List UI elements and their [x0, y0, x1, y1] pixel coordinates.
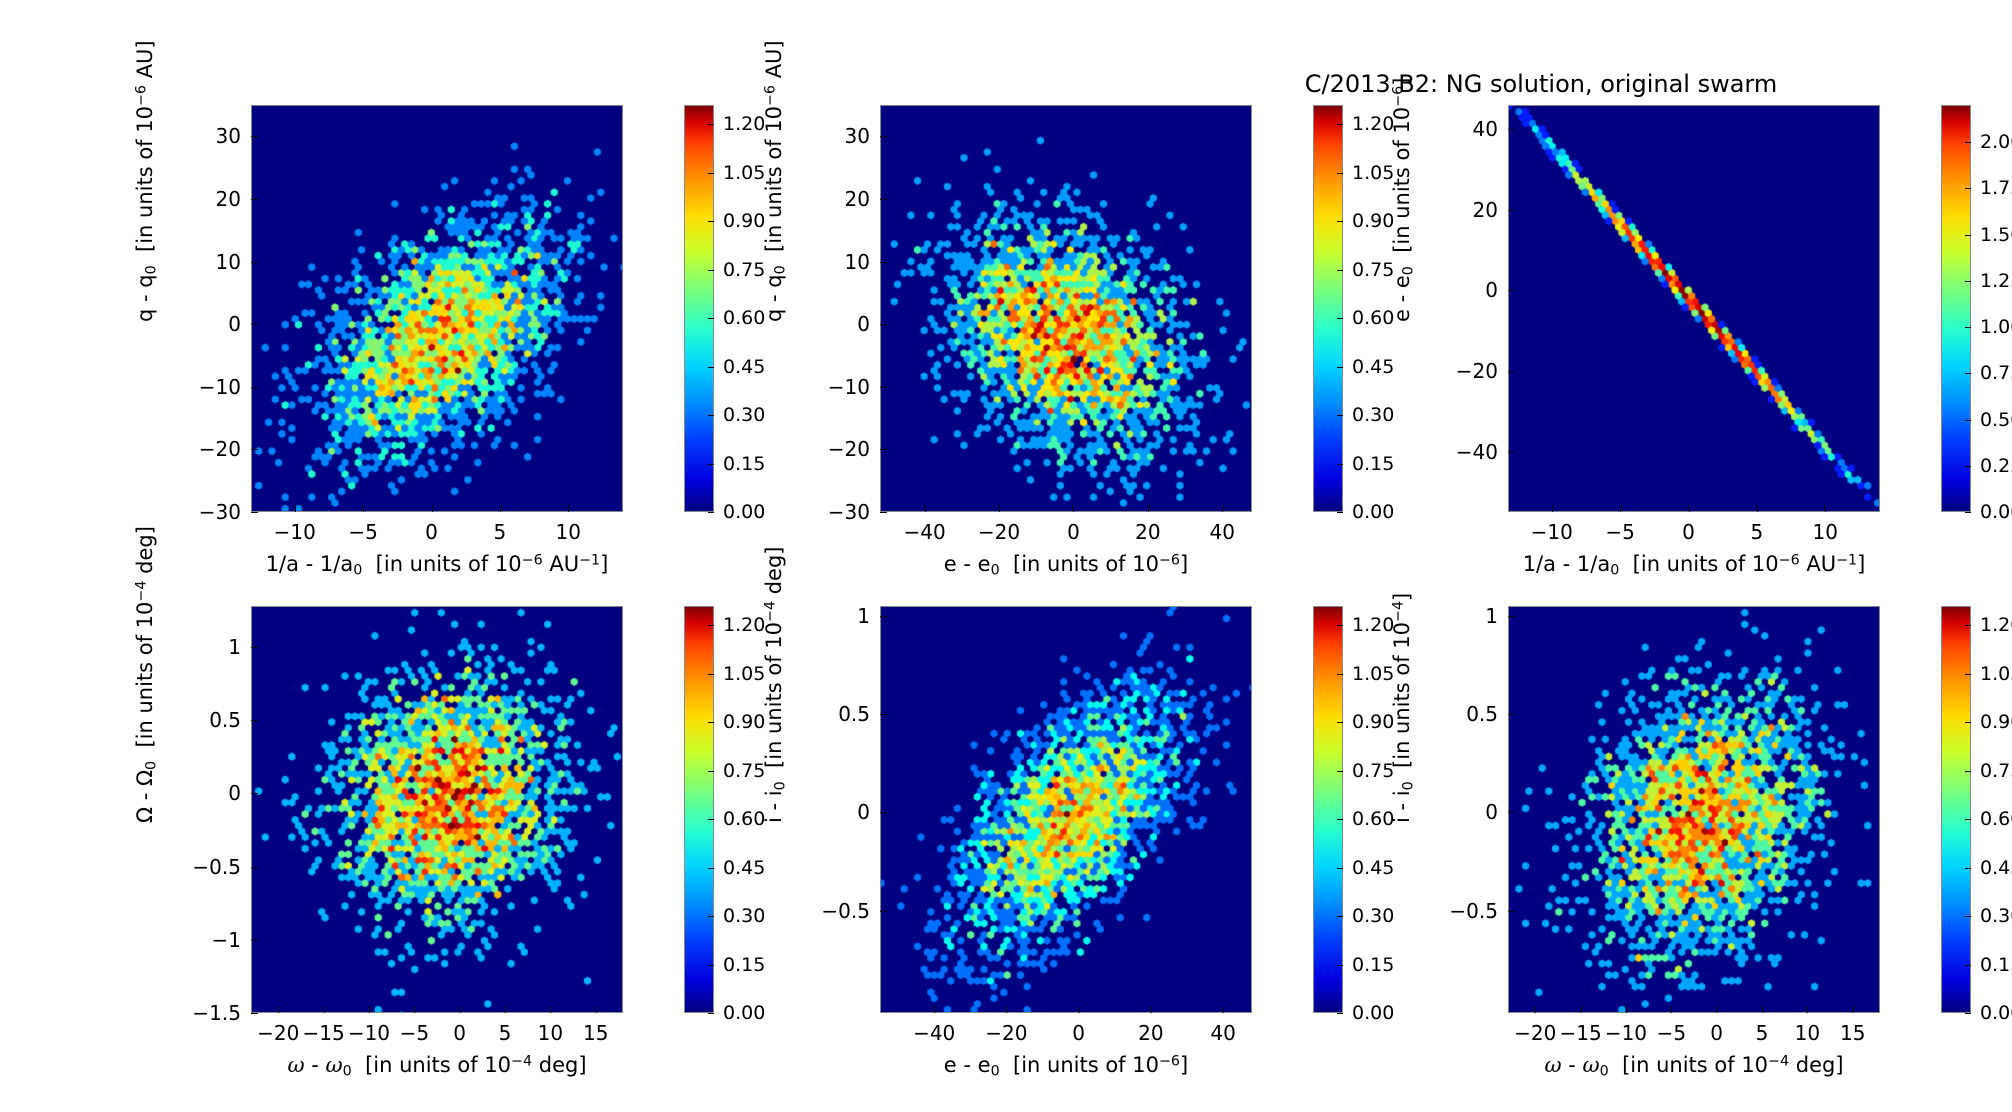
panel-e-vs-inva-ytick-label: −20	[1430, 359, 1498, 383]
panel-q-vs-e-xtick-mark	[999, 505, 1000, 512]
panel-i-vs-e-ytick-mark	[880, 714, 887, 715]
panel-q-vs-inva-colorbar-tick-label: 0.45	[723, 356, 765, 378]
panel-q-vs-inva-xtick-label: −5	[348, 520, 377, 544]
panel-node-vs-argp-ytick-mark	[251, 647, 258, 648]
panel-q-vs-inva-ytick-label: 30	[173, 124, 241, 148]
panel-i-vs-argp-xtick-label: 15	[1840, 1021, 1865, 1045]
panel-q-vs-e-xtick-mark	[1148, 505, 1149, 512]
panel-i-vs-e-xtick-label: 20	[1138, 1021, 1163, 1045]
panel-i-vs-argp-ytick-mark	[1508, 911, 1515, 912]
panel-i-vs-argp-colorbar-tick-mark	[1965, 868, 1971, 869]
panel-q-vs-e-axes[interactable]	[880, 105, 1252, 512]
panel-q-vs-e-ytick-label: 30	[802, 124, 870, 148]
panel-e-vs-inva-xtick-label: 5	[1751, 520, 1764, 544]
panel-q-vs-e-ytick-mark	[880, 136, 887, 137]
panel-i-vs-e-colorbar-tick-mark	[1337, 916, 1343, 917]
panel-i-vs-argp-colorbar-tick-mark	[1965, 674, 1971, 675]
panel-node-vs-argp-xtick-label: 5	[499, 1021, 512, 1045]
panel-q-vs-e-ytick-label: 10	[802, 250, 870, 274]
panel-i-vs-e-xaxis-label: e - e0 [in units of 10−6]	[944, 1053, 1188, 1080]
panel-e-vs-inva-colorbar-tick-mark	[1965, 327, 1971, 328]
panel-q-vs-inva-colorbar-tick-label: 0.60	[723, 307, 765, 329]
panel-e-vs-inva-xtick-label: 0	[1682, 520, 1695, 544]
panel-q-vs-e-colorbar-tick-label: 1.05	[1352, 162, 1394, 184]
panel-e-vs-inva-ytick-label: 0	[1430, 278, 1498, 302]
panel-q-vs-inva-hexbin-canvas	[252, 106, 623, 512]
panel-i-vs-e-colorbar-tick-label: 0.30	[1352, 905, 1394, 927]
panel-q-vs-e-xtick-label: 20	[1135, 520, 1160, 544]
panel-i-vs-argp-xtick-mark	[1581, 1006, 1582, 1013]
panel-node-vs-argp-colorbar-tick-label: 0.15	[723, 954, 765, 976]
panel-i-vs-e-colorbar-tick-mark	[1337, 722, 1343, 723]
panel-e-vs-inva-colorbar-tick-label: 0.00	[1980, 501, 2012, 523]
panel-node-vs-argp-colorbar-tick-label: 0.00	[723, 1002, 765, 1024]
panel-e-vs-inva-colorbar-tick-mark	[1965, 373, 1971, 374]
panel-e-vs-inva-xtick-mark	[1620, 505, 1621, 512]
panel-i-vs-argp-colorbar-tick-mark	[1965, 1013, 1971, 1014]
panel-q-vs-inva-ytick-mark	[251, 387, 258, 388]
panel-i-vs-e-xtick-label: −40	[913, 1021, 955, 1045]
panel-i-vs-argp-colorbar-tick-mark	[1965, 625, 1971, 626]
panel-i-vs-e-axes[interactable]	[880, 606, 1252, 1013]
panel-i-vs-argp-ytick-mark	[1508, 714, 1515, 715]
panel-e-vs-inva-ytick-label: 20	[1430, 198, 1498, 222]
panel-i-vs-argp-colorbar-tick-mark	[1965, 771, 1971, 772]
panel-i-vs-e-colorbar-tick-label: 1.20	[1352, 614, 1394, 636]
panel-i-vs-argp-ytick-label: 0.5	[1430, 702, 1498, 726]
panel-q-vs-inva-colorbar-tick-mark	[708, 464, 714, 465]
panel-q-vs-inva-xtick-mark	[568, 505, 569, 512]
panel-q-vs-inva-colorbar-tick-label: 0.30	[723, 404, 765, 426]
panel-i-vs-e-xtick-mark	[1223, 1006, 1224, 1013]
panel-i-vs-argp-colorbar-tick-label: 0.00	[1980, 1002, 2012, 1024]
panel-e-vs-inva-xtick-label: −5	[1605, 520, 1634, 544]
panel-node-vs-argp-ytick-label: 0.5	[173, 708, 241, 732]
panel-q-vs-inva-ytick-mark	[251, 449, 258, 450]
figure-canvas: C/2013 B2: NG solution, original swarm 3…	[0, 0, 2012, 1112]
panel-node-vs-argp-xtick-label: 0	[453, 1021, 466, 1045]
panel-i-vs-argp-colorbar[interactable]	[1941, 606, 1971, 1013]
panel-node-vs-argp-ytick-mark	[251, 1013, 258, 1014]
panel-i-vs-argp-xtick-label: 0	[1710, 1021, 1723, 1045]
panel-node-vs-argp-ytick-label: 1	[173, 635, 241, 659]
panel-i-vs-argp-yaxis-label: i - i0 [in units of 10−4]	[1390, 593, 1417, 823]
panel-q-vs-e-ytick-mark	[880, 449, 887, 450]
panel-q-vs-inva-colorbar-tick-label: 0.00	[723, 501, 765, 523]
panel-q-vs-e-ytick-label: −30	[802, 500, 870, 524]
panel-i-vs-argp-colorbar-tick-label: 0.45	[1980, 857, 2012, 879]
panel-q-vs-e-xtick-mark	[1222, 505, 1223, 512]
panel-e-vs-inva-ytick-label: 40	[1430, 117, 1498, 141]
panel-e-vs-inva-colorbar-tick-label: 1.00	[1980, 316, 2012, 338]
panel-node-vs-argp-xtick-label: 10	[538, 1021, 563, 1045]
panel-e-vs-inva-colorbar-tick-label: 0.25	[1980, 455, 2012, 477]
panel-q-vs-e-colorbar-tick-mark	[1337, 221, 1343, 222]
panel-i-vs-argp-colorbar-tick-label: 1.20	[1980, 614, 2012, 636]
panel-q-vs-e-xtick-label: −20	[978, 520, 1020, 544]
panel-i-vs-argp-xtick-label: 10	[1795, 1021, 1820, 1045]
panel-q-vs-e-colorbar[interactable]	[1313, 105, 1343, 512]
panel-e-vs-inva-ytick-label: −40	[1430, 440, 1498, 464]
panel-node-vs-argp-xtick-mark	[460, 1006, 461, 1013]
panel-node-vs-argp-colorbar-tick-label: 0.75	[723, 760, 765, 782]
panel-i-vs-e-colorbar-tick-mark	[1337, 625, 1343, 626]
panel-i-vs-e-ytick-mark	[880, 812, 887, 813]
panel-q-vs-e-colorbar-tick-mark	[1337, 367, 1343, 368]
panel-q-vs-inva-colorbar-tick-mark	[708, 124, 714, 125]
panel-e-vs-inva-ytick-mark	[1508, 129, 1515, 130]
panel-q-vs-e-colorbar-tick-mark	[1337, 318, 1343, 319]
panel-q-vs-inva-xtick-mark	[363, 505, 364, 512]
panel-q-vs-e-ytick-mark	[880, 324, 887, 325]
panel-q-vs-e-ytick-mark	[880, 199, 887, 200]
panel-i-vs-e-colorbar-tick-mark	[1337, 819, 1343, 820]
panel-node-vs-argp-colorbar-tick-mark	[708, 1013, 714, 1014]
panel-e-vs-inva-yaxis-label: e - e0 [in units of 10−6]	[1390, 77, 1417, 321]
panel-i-vs-argp-xtick-label: −5	[1657, 1021, 1686, 1045]
panel-q-vs-inva-colorbar-tick-mark	[708, 512, 714, 513]
panel-e-vs-inva-colorbar-tick-mark	[1965, 466, 1971, 467]
panel-node-vs-argp-colorbar-tick-mark	[708, 625, 714, 626]
panel-i-vs-e-xtick-mark	[934, 1006, 935, 1013]
panel-node-vs-argp-colorbar-tick-label: 0.30	[723, 905, 765, 927]
panel-node-vs-argp-ytick-label: −1	[173, 928, 241, 952]
panel-q-vs-e-colorbar-tick-label: 0.75	[1352, 259, 1394, 281]
panel-node-vs-argp-colorbar[interactable]	[684, 606, 714, 1013]
panel-i-vs-e-ytick-label: 0.5	[802, 702, 870, 726]
panel-i-vs-argp-xaxis-label: ω - ω0 [in units of 10−4 deg]	[1544, 1053, 1843, 1080]
panel-e-vs-inva-colorbar-tick-mark	[1965, 512, 1971, 513]
panel-q-vs-e-colorbar-tick-label: 0.30	[1352, 404, 1394, 426]
panel-i-vs-e-yaxis-label: i - i0 [in units of 10−4 deg]	[762, 546, 789, 822]
panel-e-vs-inva-colorbar-tick-mark	[1965, 281, 1971, 282]
panel-i-vs-e-colorbar-tick-mark	[1337, 674, 1343, 675]
panel-q-vs-e-colorbar-tick-label: 1.20	[1352, 113, 1394, 135]
panel-q-vs-inva-xtick-mark	[432, 505, 433, 512]
panel-i-vs-argp-colorbar-tick-label: 0.30	[1980, 905, 2012, 927]
panel-i-vs-e-xtick-mark	[1006, 1006, 1007, 1013]
panel-node-vs-argp-xtick-label: −5	[400, 1021, 429, 1045]
panel-e-vs-inva-ytick-mark	[1508, 210, 1515, 211]
panel-node-vs-argp-ytick-mark	[251, 867, 258, 868]
panel-node-vs-argp-ytick-label: 0	[173, 781, 241, 805]
panel-i-vs-argp-xtick-label: 5	[1756, 1021, 1769, 1045]
panel-q-vs-inva-axes[interactable]	[251, 105, 623, 512]
panel-node-vs-argp-xtick-mark	[414, 1006, 415, 1013]
panel-e-vs-inva-colorbar-tick-mark	[1965, 142, 1971, 143]
panel-q-vs-e-colorbar-tick-label: 0.60	[1352, 307, 1394, 329]
panel-i-vs-e-colorbar[interactable]	[1313, 606, 1343, 1013]
panel-q-vs-inva-ytick-label: −30	[173, 500, 241, 524]
panel-q-vs-inva-colorbar-tick-label: 1.05	[723, 162, 765, 184]
panel-i-vs-e-colorbar-tick-label: 0.00	[1352, 1002, 1394, 1024]
panel-i-vs-argp-xtick-mark	[1671, 1006, 1672, 1013]
panel-i-vs-argp-colorbar-tick-mark	[1965, 916, 1971, 917]
panel-i-vs-argp-xtick-label: −10	[1605, 1021, 1647, 1045]
panel-q-vs-inva-xtick-label: 0	[425, 520, 438, 544]
panel-e-vs-inva-xtick-mark	[1689, 505, 1690, 512]
panel-i-vs-e-colorbar-tick-mark	[1337, 965, 1343, 966]
panel-q-vs-inva-colorbar-tick-mark	[708, 270, 714, 271]
panel-node-vs-argp-xtick-mark	[505, 1006, 506, 1013]
panel-q-vs-e-colorbar-tick-mark	[1337, 124, 1343, 125]
panel-q-vs-inva-xtick-label: 10	[556, 520, 581, 544]
panel-e-vs-inva-colorbar-tick-label: 0.50	[1980, 409, 2012, 431]
panel-q-vs-inva-colorbar-tick-label: 0.15	[723, 453, 765, 475]
panel-q-vs-inva-yaxis-label: q - q0 [in units of 10−6 AU]	[133, 40, 160, 322]
panel-i-vs-argp-xtick-label: −15	[1559, 1021, 1601, 1045]
panel-e-vs-inva-colorbar-tick-label: 1.25	[1980, 270, 2012, 292]
panel-node-vs-argp-ytick-label: −1.5	[173, 1001, 241, 1025]
panel-q-vs-e-ytick-mark	[880, 387, 887, 388]
panel-i-vs-argp-xtick-mark	[1535, 1006, 1536, 1013]
panel-node-vs-argp-yaxis-label: Ω - Ω0 [in units of 10−4 deg]	[133, 526, 160, 823]
panel-e-vs-inva-xaxis-label: 1/a - 1/a0 [in units of 10−6 AU−1]	[1523, 552, 1866, 579]
panel-i-vs-e-ytick-label: −0.5	[802, 899, 870, 923]
panel-e-vs-inva-ytick-mark	[1508, 452, 1515, 453]
panel-node-vs-argp-ytick-mark	[251, 720, 258, 721]
panel-node-vs-argp-xaxis-label: ω - ω0 [in units of 10−4 deg]	[287, 1053, 586, 1080]
panel-i-vs-argp-xtick-mark	[1807, 1006, 1808, 1013]
panel-node-vs-argp-ytick-label: −0.5	[173, 855, 241, 879]
panel-q-vs-inva-xtick-label: −10	[274, 520, 316, 544]
panel-i-vs-e-colorbar-tick-label: 0.45	[1352, 857, 1394, 879]
panel-node-vs-argp-colorbar-tick-mark	[708, 868, 714, 869]
panel-q-vs-e-ytick-mark	[880, 512, 887, 513]
panel-i-vs-argp-colorbar-tick-label: 0.60	[1980, 808, 2012, 830]
panel-q-vs-inva-colorbar-tick-mark	[708, 173, 714, 174]
panel-e-vs-inva-xtick-label: −10	[1531, 520, 1573, 544]
panel-q-vs-e-xtick-mark	[925, 505, 926, 512]
panel-q-vs-e-hexbin-canvas	[881, 106, 1252, 512]
panel-i-vs-argp-hexbin-canvas	[1509, 607, 1880, 1013]
panel-e-vs-inva-colorbar[interactable]	[1941, 105, 1971, 512]
panel-q-vs-inva-colorbar[interactable]	[684, 105, 714, 512]
panel-node-vs-argp-xtick-label: −20	[257, 1021, 299, 1045]
panel-i-vs-argp-ytick-label: −0.5	[1430, 899, 1498, 923]
panel-node-vs-argp-colorbar-tick-mark	[708, 819, 714, 820]
panel-node-vs-argp-colorbar-tick-label: 1.05	[723, 663, 765, 685]
panel-q-vs-e-colorbar-tick-mark	[1337, 512, 1343, 513]
panel-i-vs-e-colorbar-tick-label: 0.75	[1352, 760, 1394, 782]
panel-i-vs-argp-colorbar-tick-mark	[1965, 965, 1971, 966]
panel-e-vs-inva-colorbar-tick-label: 1.75	[1980, 177, 2012, 199]
panel-q-vs-e-ytick-mark	[880, 262, 887, 263]
panel-i-vs-e-hexbin-canvas	[881, 607, 1252, 1013]
panel-node-vs-argp-ytick-mark	[251, 940, 258, 941]
panel-q-vs-e-colorbar-tick-mark	[1337, 173, 1343, 174]
panel-q-vs-inva-xtick-mark	[295, 505, 296, 512]
panel-q-vs-inva-ytick-mark	[251, 136, 258, 137]
panel-e-vs-inva-colorbar-tick-mark	[1965, 235, 1971, 236]
panel-q-vs-e-xtick-mark	[1073, 505, 1074, 512]
panel-q-vs-inva-ytick-label: −20	[173, 437, 241, 461]
panel-q-vs-e-xtick-label: 40	[1210, 520, 1235, 544]
panel-i-vs-argp-colorbar-tick-label: 0.15	[1980, 954, 2012, 976]
panel-i-vs-e-xtick-label: 40	[1210, 1021, 1235, 1045]
panel-q-vs-inva-ytick-label: −10	[173, 375, 241, 399]
panel-i-vs-argp-ytick-mark	[1508, 616, 1515, 617]
panel-q-vs-inva-ytick-label: 0	[173, 312, 241, 336]
panel-e-vs-inva-axes[interactable]	[1508, 105, 1880, 512]
panel-q-vs-e-ytick-label: −10	[802, 375, 870, 399]
panel-e-vs-inva-ytick-mark	[1508, 371, 1515, 372]
panel-node-vs-argp-xtick-label: 15	[583, 1021, 608, 1045]
panel-i-vs-argp-colorbar-tick-label: 0.90	[1980, 711, 2012, 733]
panel-q-vs-e-colorbar-tick-mark	[1337, 270, 1343, 271]
panel-e-vs-inva-colorbar-tick-label: 0.75	[1980, 362, 2012, 384]
panel-i-vs-e-colorbar-tick-label: 0.15	[1352, 954, 1394, 976]
panel-i-vs-e-colorbar-tick-mark	[1337, 771, 1343, 772]
panel-q-vs-inva-ytick-mark	[251, 512, 258, 513]
panel-node-vs-argp-colorbar-tick-label: 0.90	[723, 711, 765, 733]
panel-i-vs-argp-colorbar-tick-mark	[1965, 819, 1971, 820]
panel-q-vs-e-yaxis-label: q - q0 [in units of 10−6 AU]	[762, 40, 789, 322]
panel-node-vs-argp-colorbar-tick-mark	[708, 722, 714, 723]
panel-q-vs-inva-colorbar-tick-label: 0.90	[723, 210, 765, 232]
panel-q-vs-inva-ytick-label: 10	[173, 250, 241, 274]
panel-i-vs-e-colorbar-tick-mark	[1337, 868, 1343, 869]
panel-q-vs-e-xtick-label: 0	[1067, 520, 1080, 544]
panel-i-vs-argp-xtick-mark	[1717, 1006, 1718, 1013]
panel-q-vs-inva-xtick-label: 5	[494, 520, 507, 544]
panel-i-vs-e-xtick-mark	[1151, 1006, 1152, 1013]
panel-node-vs-argp-colorbar-tick-mark	[708, 916, 714, 917]
panel-q-vs-inva-colorbar-tick-mark	[708, 318, 714, 319]
panel-q-vs-e-colorbar-tick-mark	[1337, 415, 1343, 416]
panel-i-vs-argp-xtick-mark	[1853, 1006, 1854, 1013]
panel-i-vs-argp-ytick-label: 1	[1430, 604, 1498, 628]
panel-e-vs-inva-xtick-mark	[1825, 505, 1826, 512]
panel-i-vs-e-colorbar-tick-mark	[1337, 1013, 1343, 1014]
figure-title: C/2013 B2: NG solution, original swarm	[1305, 70, 1777, 98]
panel-node-vs-argp-xtick-label: −15	[302, 1021, 344, 1045]
panel-i-vs-e-colorbar-tick-label: 0.60	[1352, 808, 1394, 830]
panel-node-vs-argp-colorbar-tick-label: 0.45	[723, 857, 765, 879]
panel-e-vs-inva-colorbar-tick-mark	[1965, 188, 1971, 189]
panel-i-vs-e-colorbar-tick-label: 0.90	[1352, 711, 1394, 733]
panel-e-vs-inva-xtick-label: 10	[1813, 520, 1838, 544]
panel-e-vs-inva-hexbin-canvas	[1509, 106, 1880, 512]
panel-node-vs-argp-colorbar-tick-mark	[708, 771, 714, 772]
panel-i-vs-e-xtick-mark	[1079, 1006, 1080, 1013]
panel-q-vs-e-colorbar-tick-label: 0.15	[1352, 453, 1394, 475]
panel-node-vs-argp-xtick-mark	[596, 1006, 597, 1013]
panel-node-vs-argp-colorbar-tick-label: 0.60	[723, 808, 765, 830]
panel-q-vs-inva-xaxis-label: 1/a - 1/a0 [in units of 10−6 AU−1]	[266, 552, 609, 579]
panel-q-vs-inva-colorbar-tick-mark	[708, 367, 714, 368]
panel-q-vs-inva-ytick-mark	[251, 262, 258, 263]
panel-i-vs-argp-xtick-mark	[1626, 1006, 1627, 1013]
panel-node-vs-argp-xtick-mark	[324, 1006, 325, 1013]
panel-e-vs-inva-ytick-mark	[1508, 290, 1515, 291]
panel-i-vs-e-colorbar-tick-label: 1.05	[1352, 663, 1394, 685]
panel-q-vs-inva-colorbar-tick-label: 0.75	[723, 259, 765, 281]
panel-node-vs-argp-colorbar-tick-mark	[708, 674, 714, 675]
panel-i-vs-e-ytick-label: 0	[802, 800, 870, 824]
panel-i-vs-e-ytick-mark	[880, 911, 887, 912]
panel-node-vs-argp-xtick-mark	[369, 1006, 370, 1013]
panel-node-vs-argp-colorbar-tick-label: 1.20	[723, 614, 765, 636]
panel-e-vs-inva-xtick-mark	[1757, 505, 1758, 512]
panel-q-vs-inva-xtick-mark	[500, 505, 501, 512]
panel-node-vs-argp-hexbin-canvas	[252, 607, 623, 1013]
panel-node-vs-argp-ytick-mark	[251, 793, 258, 794]
panel-i-vs-argp-ytick-label: 0	[1430, 800, 1498, 824]
panel-node-vs-argp-xtick-label: −10	[348, 1021, 390, 1045]
panel-q-vs-inva-colorbar-tick-mark	[708, 415, 714, 416]
panel-e-vs-inva-xtick-mark	[1552, 505, 1553, 512]
panel-i-vs-argp-colorbar-tick-label: 0.75	[1980, 760, 2012, 782]
panel-e-vs-inva-colorbar-tick-label: 2.00	[1980, 131, 2012, 153]
panel-i-vs-e-xtick-label: −20	[985, 1021, 1027, 1045]
panel-i-vs-argp-ytick-mark	[1508, 812, 1515, 813]
panel-i-vs-argp-colorbar-tick-mark	[1965, 722, 1971, 723]
panel-node-vs-argp-xtick-mark	[550, 1006, 551, 1013]
panel-q-vs-e-colorbar-tick-mark	[1337, 464, 1343, 465]
panel-node-vs-argp-xtick-mark	[278, 1006, 279, 1013]
panel-q-vs-inva-ytick-mark	[251, 324, 258, 325]
panel-e-vs-inva-colorbar-tick-label: 1.50	[1980, 224, 2012, 246]
panel-q-vs-e-colorbar-tick-label: 0.00	[1352, 501, 1394, 523]
panel-e-vs-inva-colorbar-tick-mark	[1965, 420, 1971, 421]
panel-q-vs-e-ytick-label: −20	[802, 437, 870, 461]
panel-q-vs-inva-colorbar-tick-mark	[708, 221, 714, 222]
panel-q-vs-inva-ytick-mark	[251, 199, 258, 200]
panel-q-vs-e-ytick-label: 20	[802, 187, 870, 211]
panel-q-vs-inva-ytick-label: 20	[173, 187, 241, 211]
panel-q-vs-e-colorbar-tick-label: 0.45	[1352, 356, 1394, 378]
panel-q-vs-e-colorbar-tick-label: 0.90	[1352, 210, 1394, 232]
panel-i-vs-argp-axes[interactable]	[1508, 606, 1880, 1013]
panel-i-vs-e-xtick-label: 0	[1072, 1021, 1085, 1045]
panel-i-vs-e-ytick-label: 1	[802, 604, 870, 628]
panel-i-vs-argp-colorbar-tick-label: 1.05	[1980, 663, 2012, 685]
panel-q-vs-e-xtick-label: −40	[904, 520, 946, 544]
panel-q-vs-inva-colorbar-tick-label: 1.20	[723, 113, 765, 135]
panel-q-vs-e-ytick-label: 0	[802, 312, 870, 336]
panel-node-vs-argp-axes[interactable]	[251, 606, 623, 1013]
panel-i-vs-e-ytick-mark	[880, 616, 887, 617]
panel-q-vs-e-xaxis-label: e - e0 [in units of 10−6]	[944, 552, 1188, 579]
panel-i-vs-argp-xtick-mark	[1762, 1006, 1763, 1013]
panel-i-vs-argp-xtick-label: −20	[1514, 1021, 1556, 1045]
panel-node-vs-argp-colorbar-tick-mark	[708, 965, 714, 966]
